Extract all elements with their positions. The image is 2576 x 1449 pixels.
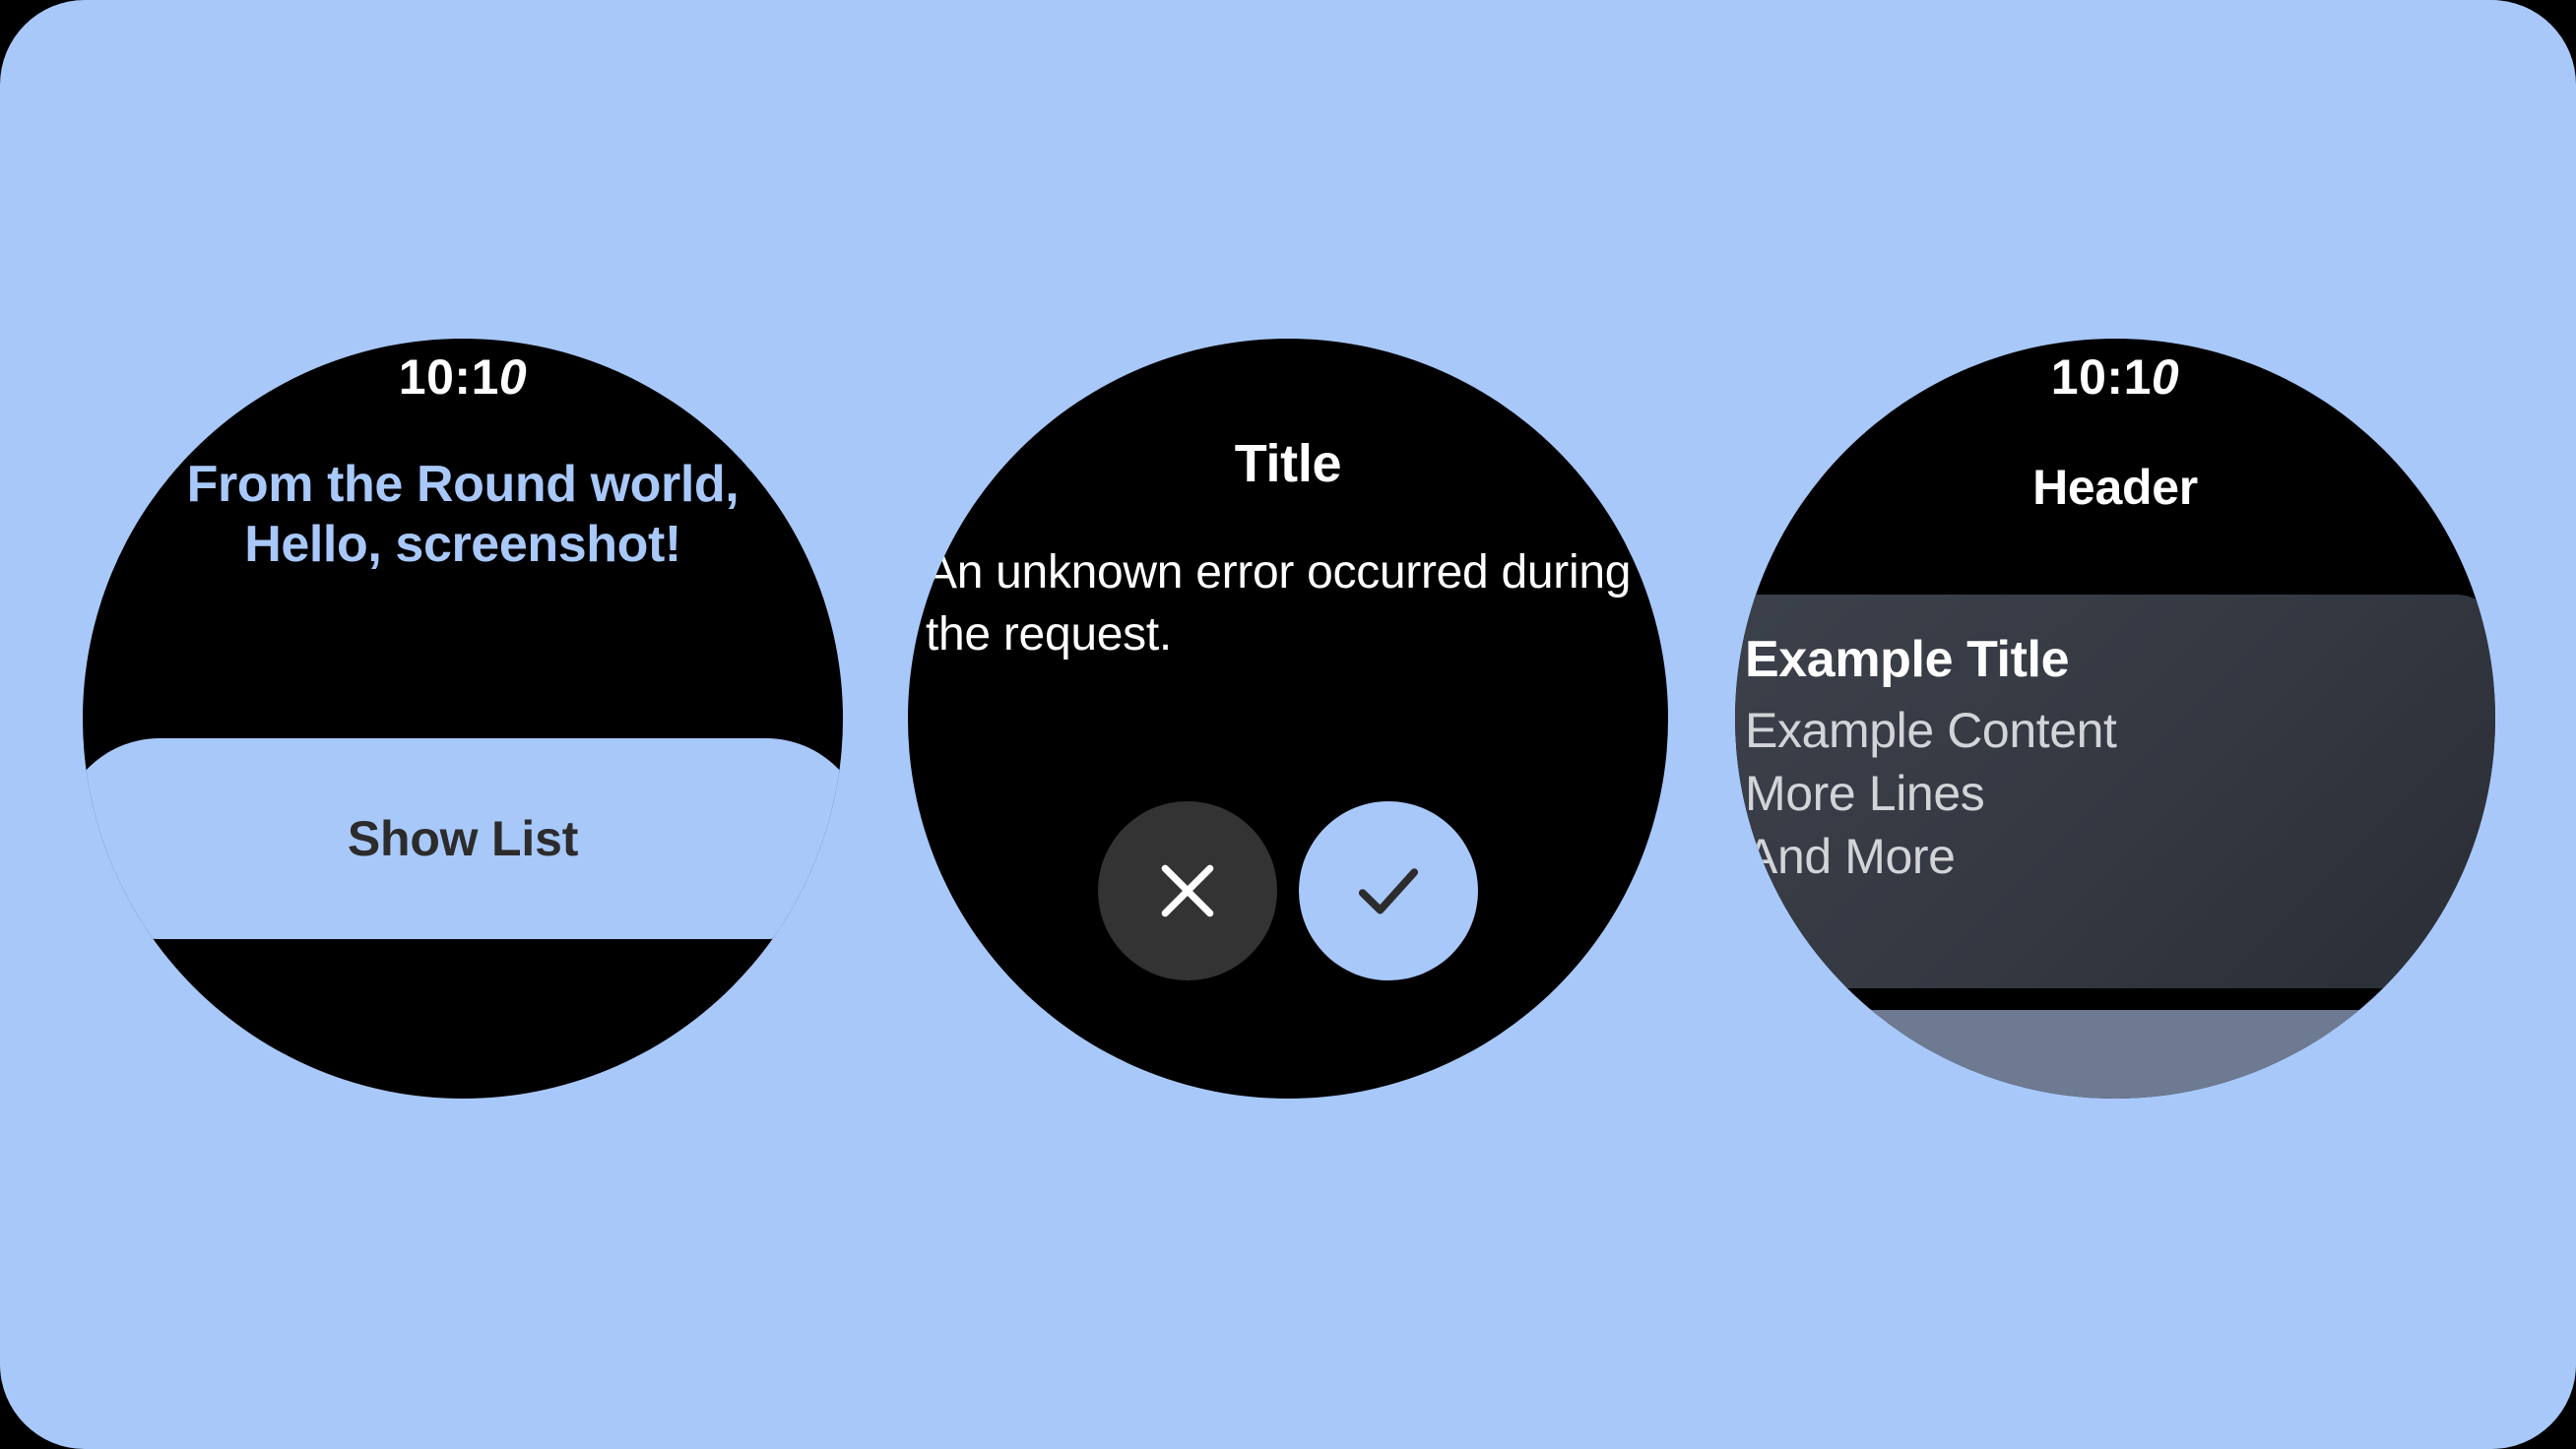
greeting-line-1: From the Round world, [132, 455, 794, 515]
status-time: 10:10 [1735, 350, 2495, 405]
status-time-digits: 10:1 [399, 349, 499, 405]
card-title: Example Title [1745, 634, 2495, 685]
overscroll-indicator [1735, 1010, 2495, 1099]
page-header: Header [1735, 459, 2495, 516]
status-time-last-digit: 0 [499, 349, 527, 405]
show-list-button-label: Show List [348, 810, 578, 867]
status-time-digits: 10:1 [2051, 349, 2152, 405]
card-bottom-gap [1735, 988, 2495, 1010]
watch-round-greeting: 10:10 From the Round world, Hello, scree… [83, 339, 843, 1099]
confirm-button[interactable] [1299, 801, 1478, 980]
dialog-title: Title [908, 433, 1668, 494]
greeting-line-2: Hello, screenshot! [132, 515, 794, 575]
card-line: And More [1745, 825, 2495, 888]
dismiss-button[interactable] [1098, 801, 1277, 980]
status-time-last-digit: 0 [2152, 349, 2179, 405]
watch-round-card: 10:10 Header Example Title Example Conte… [1735, 339, 2495, 1099]
watch-round-dialog: Title An unknown error occurred during t… [908, 339, 1668, 1099]
dialog-button-row [908, 801, 1668, 980]
card-line: Example Content [1745, 699, 2495, 762]
screenshot-canvas: 10:10 From the Round world, Hello, scree… [0, 0, 2576, 1449]
card-line: More Lines [1745, 762, 2495, 825]
status-time: 10:10 [83, 350, 843, 405]
dialog-message: An unknown error occurred during the req… [926, 541, 1650, 666]
example-card[interactable]: Example Title Example Content More Lines… [1735, 595, 2495, 988]
greeting-text: From the Round world, Hello, screenshot! [132, 455, 794, 576]
check-icon [1347, 850, 1430, 932]
show-list-button[interactable]: Show List [83, 738, 843, 939]
close-x-icon [1149, 852, 1226, 929]
